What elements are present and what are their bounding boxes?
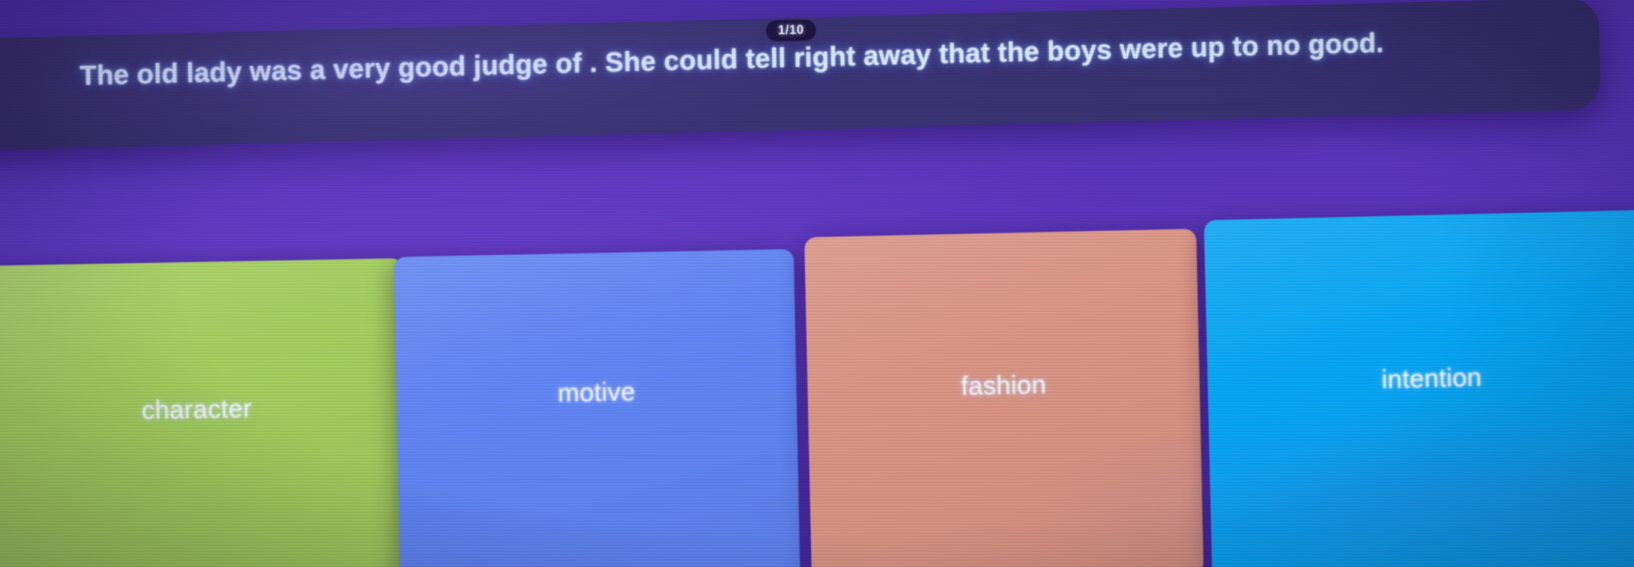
progress-badge: 1/10 xyxy=(766,19,816,41)
answer-option-label: motive xyxy=(396,373,797,412)
answer-option-character[interactable]: character xyxy=(0,258,409,567)
answer-option-label: character xyxy=(0,390,406,429)
answer-option-label: intention xyxy=(1207,358,1634,400)
answer-option-label: fashion xyxy=(807,366,1200,406)
quiz-screen: The old lady was a very good judge of . … xyxy=(0,0,1634,567)
answer-option-intention[interactable]: intention xyxy=(1204,210,1634,567)
answer-option-motive[interactable]: motive xyxy=(394,249,801,567)
answer-option-fashion[interactable]: fashion xyxy=(804,229,1203,567)
